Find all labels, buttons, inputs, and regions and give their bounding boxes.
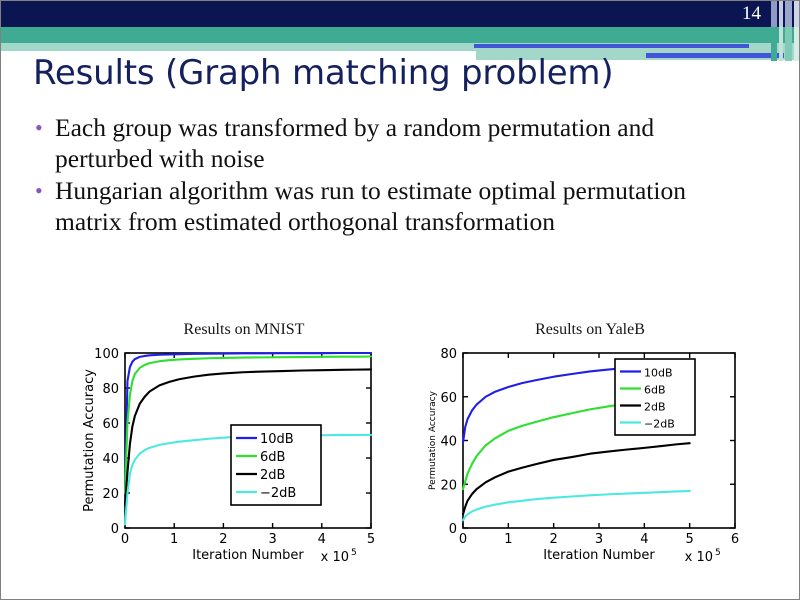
chart-legend: 10dB6dB2dB−2dB	[231, 425, 321, 505]
edge-stripe-teal-4	[794, 27, 800, 61]
y-tick-label: 20	[102, 487, 119, 502]
x-tick-label: 4	[640, 532, 648, 547]
y-tick-label: 80	[440, 347, 457, 362]
x-tick-label: 0	[121, 532, 129, 547]
plot-area-yaleb: 0123456020406080Iteration NumberPermutat…	[425, 343, 755, 579]
chart-svg-mnist: 012345020406080100Iteration NumberPermut…	[79, 343, 409, 579]
x-tick-label: 6	[731, 532, 739, 547]
legend-label-10dB: 10dB	[260, 432, 294, 447]
y-tick-label: 0	[111, 522, 119, 537]
plot-area-mnist: 012345020406080100Iteration NumberPermut…	[79, 343, 409, 579]
bullet-text: Hungarian algorithm was run to estimate …	[55, 176, 710, 237]
header-accent-line-lower	[646, 53, 784, 58]
edge-stripe-teal-3	[785, 27, 792, 61]
legend-label-6dB: 6dB	[260, 450, 285, 465]
list-item: • Hungarian algorithm was run to estimat…	[35, 176, 735, 237]
svg-text:5: 5	[351, 548, 357, 558]
x-tick-label: 2	[550, 532, 558, 547]
x-tick-label: 1	[170, 532, 178, 547]
slide-title: Results (Graph matching problem)	[33, 53, 613, 93]
x-tick-label: 1	[504, 532, 512, 547]
header-navy-band	[1, 1, 800, 27]
list-item: • Each group was transformed by a random…	[35, 113, 735, 174]
x-tick-label: 3	[595, 532, 603, 547]
header-light-teal-left	[1, 43, 476, 51]
edge-stripe-teal-1	[771, 27, 777, 61]
svg-text:5: 5	[715, 548, 721, 558]
y-tick-label: 100	[94, 347, 119, 362]
x-tick-label: 2	[219, 532, 227, 547]
legend-label-6dB: 6dB	[644, 384, 666, 397]
bullet-text: Each group was transformed by a random p…	[55, 113, 710, 174]
bullet-dot-icon: •	[35, 113, 55, 143]
figure-mnist: Results on MNIST 012345020406080100Itera…	[79, 319, 409, 581]
x-axis-multiplier: x 105	[321, 548, 357, 565]
y-tick-label: 20	[440, 478, 457, 493]
x-tick-label: 5	[686, 532, 694, 547]
bullet-list: • Each group was transformed by a random…	[35, 113, 735, 239]
x-axis-label: Iteration Number	[192, 548, 304, 563]
y-tick-label: 80	[102, 382, 119, 397]
x-axis-label: Iteration Number	[543, 548, 655, 563]
chart-legend: 10dB6dB2dB−2dB	[615, 359, 695, 435]
legend-label-−2dB: −2dB	[260, 486, 296, 501]
svg-text:x 10: x 10	[685, 550, 713, 565]
y-tick-label: 40	[102, 452, 119, 467]
y-axis-label: Permutation Accuracy	[82, 369, 97, 512]
slide-page-number: 14	[742, 2, 761, 26]
legend-label-2dB: 2dB	[644, 401, 666, 414]
y-axis-label: Permutation Accuracy	[428, 390, 438, 490]
x-tick-label: 4	[318, 532, 326, 547]
y-tick-label: 40	[440, 435, 457, 450]
x-tick-label: 0	[459, 532, 467, 547]
y-tick-label: 0	[449, 522, 457, 537]
figure-title: Results on YaleB	[425, 319, 755, 343]
presentation-slide: 14 Results (Graph matching problem) • Ea…	[0, 0, 800, 600]
svg-text:x 10: x 10	[321, 550, 349, 565]
legend-label-10dB: 10dB	[644, 367, 673, 380]
bullet-dot-icon: •	[35, 176, 55, 206]
header-accent-line-upper	[474, 44, 749, 48]
figure-title: Results on MNIST	[79, 319, 409, 343]
legend-label-2dB: 2dB	[260, 468, 285, 483]
edge-stripe-teal-2	[779, 27, 783, 61]
legend-label-−2dB: −2dB	[644, 418, 675, 431]
header-teal-band	[1, 27, 800, 43]
x-tick-label: 3	[268, 532, 276, 547]
y-tick-label: 60	[440, 391, 457, 406]
figure-yaleb: Results on YaleB 0123456020406080Iterati…	[425, 319, 755, 581]
x-tick-label: 5	[367, 532, 375, 547]
x-axis-multiplier: x 105	[685, 548, 721, 565]
y-tick-label: 60	[102, 417, 119, 432]
chart-svg-yaleb: 0123456020406080Iteration NumberPermutat…	[425, 343, 755, 579]
